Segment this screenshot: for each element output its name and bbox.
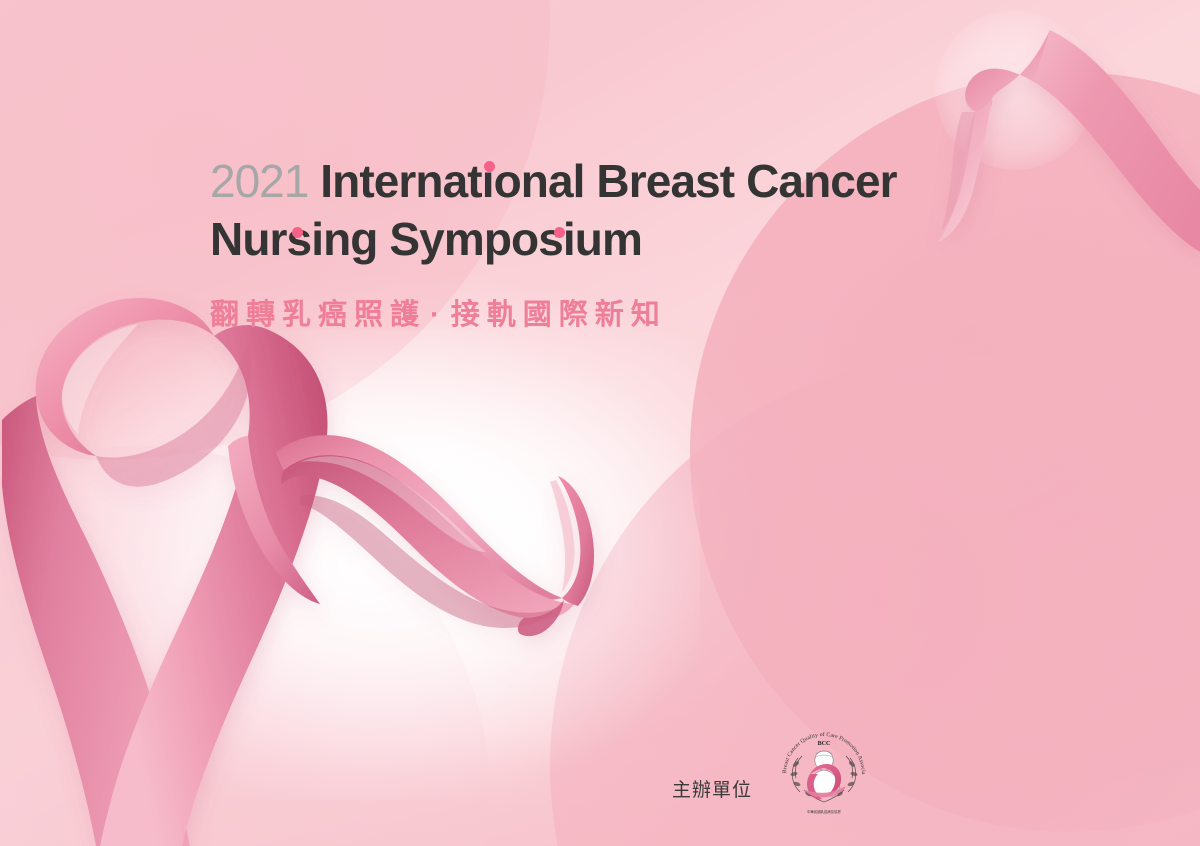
poster-canvas: 2021 International Breast Cancer Nursing… <box>0 0 1200 846</box>
organizer-logo: The Breast Cancer Quality of Care Promot… <box>774 718 874 818</box>
organizer-label: 主辦單位 <box>672 775 752 802</box>
title-line-2: Nursing Symposium <box>210 210 1050 268</box>
accent-dot-nursing-i <box>292 227 303 238</box>
subtitle-separator-dot: · <box>426 299 451 331</box>
event-year: 2021 <box>210 155 308 207</box>
logo-abbreviation: BCC <box>818 741 831 747</box>
title-main-line2: Nursing Symposium <box>210 213 642 265</box>
subtitle-chinese: 翻轉乳癌照護·接軌國際新知 <box>210 291 1050 333</box>
accent-dot-international-i <box>484 161 495 172</box>
title-main-line1: International Breast Cancer <box>320 155 896 207</box>
subtitle-part-right: 接軌國際新知 <box>451 299 667 331</box>
headline-block: 2021 International Breast Cancer Nursing… <box>210 152 1050 333</box>
logo-footer-text: 中華民國乳癌病友協會 <box>807 809 842 814</box>
accent-dot-symposium-i <box>554 227 565 238</box>
subtitle-part-left: 翻轉乳癌照護 <box>210 299 426 331</box>
organizer-block: 主辦單位 The Breast Cancer Quality of Care P… <box>672 718 874 818</box>
title-line-1: 2021 International Breast Cancer <box>210 152 1050 210</box>
background-gradient <box>0 0 1200 846</box>
